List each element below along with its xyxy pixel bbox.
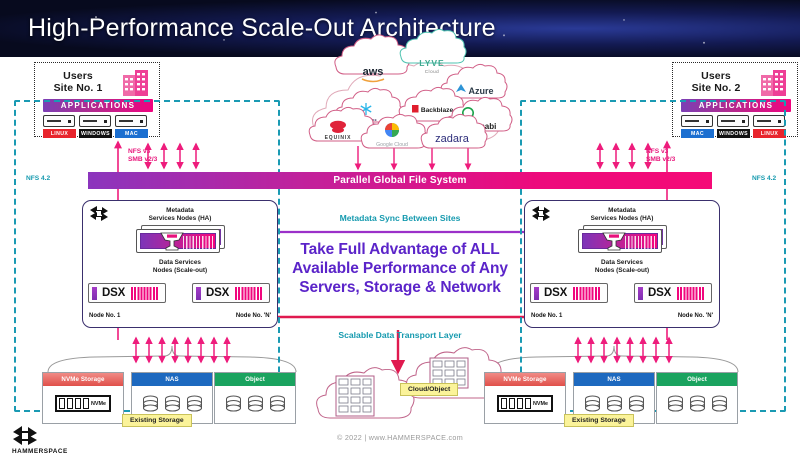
site-2-title-line2: Site No. 2 — [692, 82, 741, 94]
storage-tier-nvme: NVMe Storage NVMe — [42, 372, 124, 424]
site-1-protocol-right: NFS v3 SMB v2/3 — [128, 148, 188, 164]
cloud-object-tag: Cloud/Object — [400, 383, 458, 396]
site-1-title-line1: Users — [63, 70, 93, 82]
disk-icon — [689, 395, 706, 415]
disk-icon — [628, 395, 645, 415]
object-disk-group — [657, 386, 737, 423]
header-banner: High-Performance Scale-Out Architecture — [0, 0, 800, 57]
headline-line-2: Available Performance of Any — [292, 260, 508, 277]
svg-text:Cloud: Cloud — [425, 69, 440, 74]
anvil-icon — [601, 229, 627, 251]
object-disk-group — [215, 386, 295, 423]
storage-tier-object: Object — [656, 372, 738, 424]
parallel-global-file-system-bar: Parallel Global File System — [88, 172, 712, 189]
disk-icon — [584, 395, 601, 415]
cloud-google: Google Cloud — [361, 114, 427, 148]
site-1-metadata-label: Metadata Services Nodes (HA) — [83, 207, 277, 222]
disk-icon — [711, 395, 728, 415]
disk-icon — [186, 395, 203, 415]
brand-name: HAMMERSPACE — [12, 448, 68, 455]
cloud-azure: Azure — [441, 64, 507, 98]
headline-line-1: Take Full Advantage of ALL — [300, 241, 499, 258]
site-2-node-first: Node No. 1 — [531, 313, 562, 319]
site-1-title-line2: Site No. 1 — [54, 82, 103, 94]
disk-icon — [225, 395, 242, 415]
existing-storage-tag-site-2: Existing Storage — [564, 414, 634, 427]
svg-text:SNOWFLAKE: SNOWFLAKE — [355, 118, 377, 122]
disk-icon — [164, 395, 181, 415]
site-1-title: Users Site No. 1 — [39, 70, 117, 94]
storage-tier-object-header: Object — [657, 373, 737, 386]
page-title: High-Performance Scale-Out Architecture — [28, 14, 496, 43]
office-building-icon — [121, 69, 151, 97]
disk-icon — [667, 395, 684, 415]
storage-tier-nvme-header: NVMe Storage — [43, 373, 123, 386]
cloud-wasabi: wasabi — [446, 97, 512, 131]
svg-text:DATA CLOUD: DATA CLOUD — [356, 122, 375, 126]
storage-tier-nas-header: NAS — [132, 373, 212, 386]
cloud-zadara: zadara — [421, 114, 487, 148]
svg-text:aws: aws — [363, 66, 384, 78]
footer-copyright: © 2022 | www.HAMMERSPACE.com — [0, 433, 800, 442]
site-2-node-last: Node No. 'N' — [678, 313, 713, 319]
disk-icon — [247, 395, 264, 415]
site-2-metadata-label: Metadata Services Nodes (HA) — [525, 207, 719, 222]
disk-icon — [606, 395, 623, 415]
metadata-node-primary — [578, 229, 662, 253]
site-1-node-panel: Metadata Services Nodes (HA) Data Servic… — [82, 200, 278, 328]
cloud-backblaze: Backblaze — [399, 87, 465, 121]
scalable-transport-label: Scalable Data Transport Layer — [278, 330, 522, 340]
svg-text:EQUINIX: EQUINIX — [325, 135, 352, 141]
center-headline: Take Full Advantage of ALL Available Per… — [278, 240, 522, 297]
svg-text:LYVE: LYVE — [419, 58, 444, 68]
storage-tier-object-header: Object — [215, 373, 295, 386]
site-1-node-first: Node No. 1 — [89, 313, 120, 319]
svg-text:Google Cloud: Google Cloud — [376, 142, 408, 148]
cloud-server-grid — [336, 376, 374, 416]
site-1-node-last: Node No. 'N' — [236, 313, 271, 319]
dsx-node: DSX — [530, 283, 608, 303]
disk-icon — [142, 395, 159, 415]
storage-tier-nvme-header: NVMe Storage — [485, 373, 565, 386]
site-1-protocol-left: NFS 4.2 — [26, 175, 50, 183]
metadata-node-primary — [136, 229, 220, 253]
site-2-data-services-label: Data Services Nodes (Scale-out) — [525, 259, 719, 274]
svg-text:zadara: zadara — [435, 133, 470, 145]
site-2-title-line1: Users — [701, 70, 731, 82]
anvil-icon — [159, 229, 185, 251]
storage-tier-object: Object — [214, 372, 296, 424]
nvme-device-icon: NVMe — [55, 395, 111, 412]
disk-icon — [269, 395, 286, 415]
storage-tier-nvme: NVMe Storage NVMe — [484, 372, 566, 424]
svg-text:Azure: Azure — [468, 86, 493, 96]
cloud-snowflake: SNOWFLAKE DATA CLOUD — [336, 88, 402, 126]
site-2-title: Users Site No. 2 — [677, 70, 755, 94]
dsx-node: DSX — [88, 283, 166, 303]
site-2-node-panel: Metadata Services Nodes (HA) Data Servic… — [524, 200, 720, 328]
nvme-device-icon: NVMe — [497, 395, 553, 412]
site-2-protocol-right: NFS 4.2 — [752, 175, 776, 183]
storage-tier-nas-header: NAS — [574, 373, 654, 386]
cloud-equinix: EQUINIX — [309, 107, 375, 141]
headline-line-3: Servers, Storage & Network — [299, 279, 501, 296]
existing-storage-tag-site-1: Existing Storage — [122, 414, 192, 427]
metadata-sync-label: Metadata Sync Between Sites — [278, 213, 522, 223]
site-2-protocol-left: NFS v3 SMB v2/3 — [646, 148, 706, 164]
dsx-node: DSX — [192, 283, 270, 303]
svg-text:Backblaze: Backblaze — [421, 107, 454, 114]
site-1-data-services-label: Data Services Nodes (Scale-out) — [83, 259, 277, 274]
office-building-icon — [759, 69, 789, 97]
svg-text:wasabi: wasabi — [469, 122, 497, 131]
diagram-canvas: High-Performance Scale-Out Architecture — [0, 0, 800, 459]
dsx-node: DSX — [634, 283, 712, 303]
